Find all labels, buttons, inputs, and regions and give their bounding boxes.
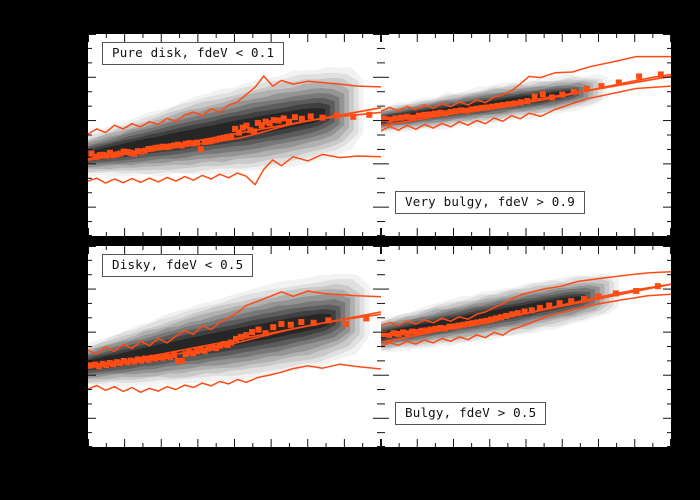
data-point [596, 293, 602, 299]
data-point [518, 99, 524, 105]
data-point [343, 321, 349, 327]
panel-label-pure-disk: Pure disk, fdeV < 0.1 [102, 42, 284, 65]
panel-bulgy: Bulgy, fdeV > 0.5 [381, 246, 671, 447]
data-point [546, 303, 552, 309]
data-point [325, 317, 331, 323]
data-point [299, 116, 305, 122]
data-point [509, 311, 515, 317]
figure-canvas: Pure disk, fdeV < 0.1Very bulgy, fdeV > … [0, 0, 700, 500]
data-point [366, 112, 372, 118]
data-point [437, 110, 443, 116]
data-point [363, 315, 369, 321]
data-point [442, 110, 448, 116]
data-point [500, 102, 506, 108]
data-point [334, 113, 340, 119]
data-point [276, 118, 282, 124]
data-point [598, 83, 604, 89]
density-contours-pure-disk [88, 67, 363, 177]
data-point [398, 115, 404, 121]
data-point [228, 133, 234, 139]
data-point [613, 290, 619, 296]
data-point [298, 319, 304, 325]
data-point [540, 91, 546, 97]
data-point [251, 128, 257, 134]
data-point [448, 109, 454, 115]
data-point [458, 107, 464, 113]
data-point [655, 283, 661, 289]
panel-label-disky: Disky, fdeV < 0.5 [102, 254, 253, 277]
data-point [194, 140, 200, 146]
data-point [506, 101, 512, 107]
panel-pure-disk: Pure disk, fdeV < 0.1 [88, 34, 381, 236]
data-point [498, 314, 504, 320]
panel-disky: Disky, fdeV < 0.5 [88, 246, 381, 447]
panel-very-bulgy: Very bulgy, fdeV > 0.9 [381, 34, 671, 236]
data-point [292, 114, 298, 120]
data-point [286, 119, 292, 125]
density-contours-bulgy [381, 274, 619, 352]
data-point [453, 108, 459, 114]
data-point [263, 330, 269, 336]
data-point [584, 86, 590, 92]
data-point [427, 111, 433, 117]
data-point [308, 113, 314, 119]
data-point [537, 305, 543, 311]
data-point [288, 322, 294, 328]
panel-label-bulgy: Bulgy, fdeV > 0.5 [395, 402, 546, 425]
data-point [557, 300, 563, 306]
data-point [515, 310, 521, 316]
data-point [432, 111, 438, 117]
data-point [571, 89, 577, 95]
data-point [422, 112, 428, 118]
data-point [559, 92, 565, 98]
data-point [503, 313, 509, 319]
data-point [270, 324, 276, 330]
density-contours-disky [88, 274, 369, 387]
data-point [522, 309, 528, 315]
data-point [469, 107, 475, 113]
data-point [311, 320, 317, 326]
data-point [463, 108, 469, 114]
data-point [281, 115, 287, 121]
data-point [495, 103, 501, 109]
data-point [489, 104, 495, 110]
panel-label-very-bulgy: Very bulgy, fdeV > 0.9 [395, 191, 585, 214]
data-point [179, 358, 185, 364]
data-point [479, 105, 485, 111]
data-point [511, 101, 517, 107]
data-point [633, 288, 639, 294]
data-point [532, 94, 538, 100]
data-point [238, 334, 244, 340]
data-point [616, 80, 622, 86]
data-point [636, 73, 642, 79]
data-point [410, 115, 416, 121]
data-point [493, 315, 499, 321]
data-point [256, 327, 262, 333]
data-point [393, 115, 399, 121]
data-point [404, 114, 410, 120]
data-point [319, 115, 325, 121]
data-point [387, 117, 393, 123]
data-point [171, 352, 177, 358]
data-point [198, 146, 204, 152]
data-point [549, 94, 555, 100]
data-point [350, 114, 356, 120]
data-point [278, 321, 284, 327]
data-point [243, 332, 249, 338]
data-point [249, 329, 255, 335]
data-point [484, 105, 490, 111]
data-point [529, 307, 535, 313]
data-point [416, 113, 422, 119]
data-point [568, 298, 574, 304]
data-point [474, 106, 480, 112]
data-point [524, 98, 530, 104]
data-point [658, 71, 664, 77]
data-point [581, 296, 587, 302]
